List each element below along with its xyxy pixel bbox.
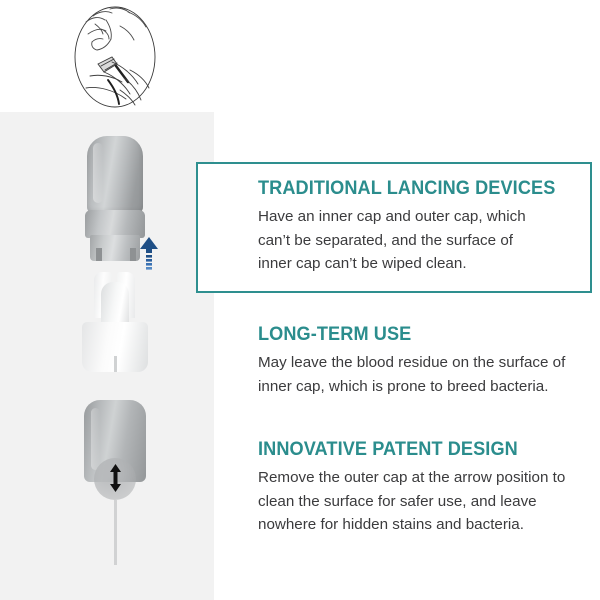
double-arrow-icon — [109, 464, 122, 492]
device-assembled-arrow-window — [68, 400, 178, 565]
section-innovative-patent-design: INNOVATIVE PATENT DESIGN Remove the oute… — [258, 438, 592, 537]
outer-cap-notch-left — [96, 248, 102, 261]
device-outer-cap-detached — [68, 136, 178, 276]
content-column: TRADITIONAL LANCING DEVICES Have an inne… — [196, 0, 600, 600]
section-body: Remove the outer cap at the arrow positi… — [258, 466, 588, 537]
section-body: May leave the blood residue on the surfa… — [258, 351, 588, 398]
hand-removing-cap-sketch — [68, 4, 162, 110]
section-heading: INNOVATIVE PATENT DESIGN — [258, 438, 569, 461]
section-heading: TRADITIONAL LANCING DEVICES — [258, 177, 569, 200]
section-heading: LONG-TERM USE — [258, 323, 569, 346]
outer-cap-collar — [85, 210, 145, 238]
section-traditional-lancing-devices: TRADITIONAL LANCING DEVICES Have an inne… — [258, 177, 592, 276]
device-inner-cap-exposed — [68, 272, 178, 372]
device-body-seam — [114, 356, 117, 372]
section-long-term-use: LONG-TERM USE May leave the blood residu… — [258, 323, 592, 398]
up-arrow-icon — [139, 237, 159, 271]
outer-cap — [87, 136, 143, 214]
device-body-seam — [114, 500, 117, 565]
outer-cap-notch-right — [130, 248, 136, 261]
infographic-page: TRADITIONAL LANCING DEVICES Have an inne… — [0, 0, 600, 600]
section-body: Have an inner cap and outer cap, which c… — [258, 205, 550, 276]
